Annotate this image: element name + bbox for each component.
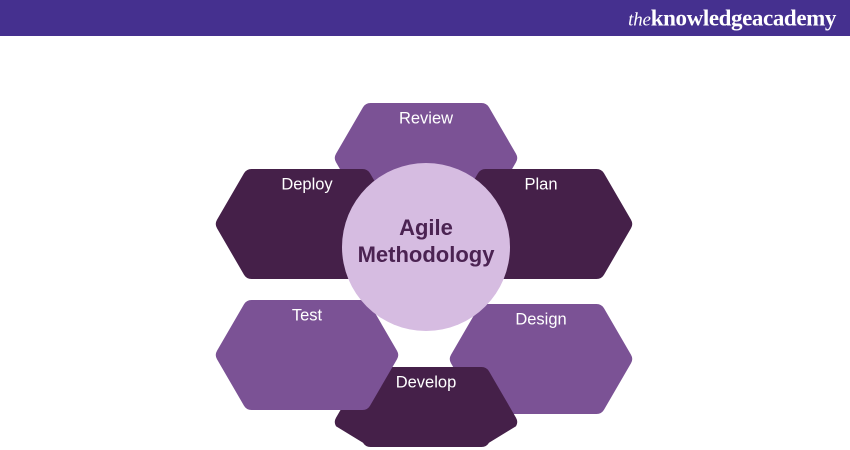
- hex-label-review: Review: [399, 109, 453, 127]
- brand-logo-main: knowledgeacademy: [651, 6, 836, 31]
- hex-node-test[interactable]: Test: [216, 300, 399, 410]
- diagram-stage: Review Plan Design Develop Test Deploy: [0, 36, 850, 450]
- brand-logo: theknowledgeacademy: [628, 7, 836, 30]
- hex-label-design: Design: [515, 310, 566, 328]
- center-label-line2: Methodology: [358, 242, 496, 267]
- hex-label-test: Test: [292, 306, 323, 324]
- header-bar: theknowledgeacademy: [0, 0, 850, 36]
- hex-label-deploy: Deploy: [281, 175, 333, 193]
- center-label-line1: Agile: [399, 215, 453, 240]
- center-hub[interactable]: Agile Methodology: [342, 163, 510, 331]
- hex-label-plan: Plan: [524, 175, 557, 193]
- brand-logo-prefix: the: [628, 10, 651, 31]
- hex-label-develop: Develop: [396, 373, 457, 391]
- agile-methodology-hexagon-diagram: Review Plan Design Develop Test Deploy: [0, 36, 850, 450]
